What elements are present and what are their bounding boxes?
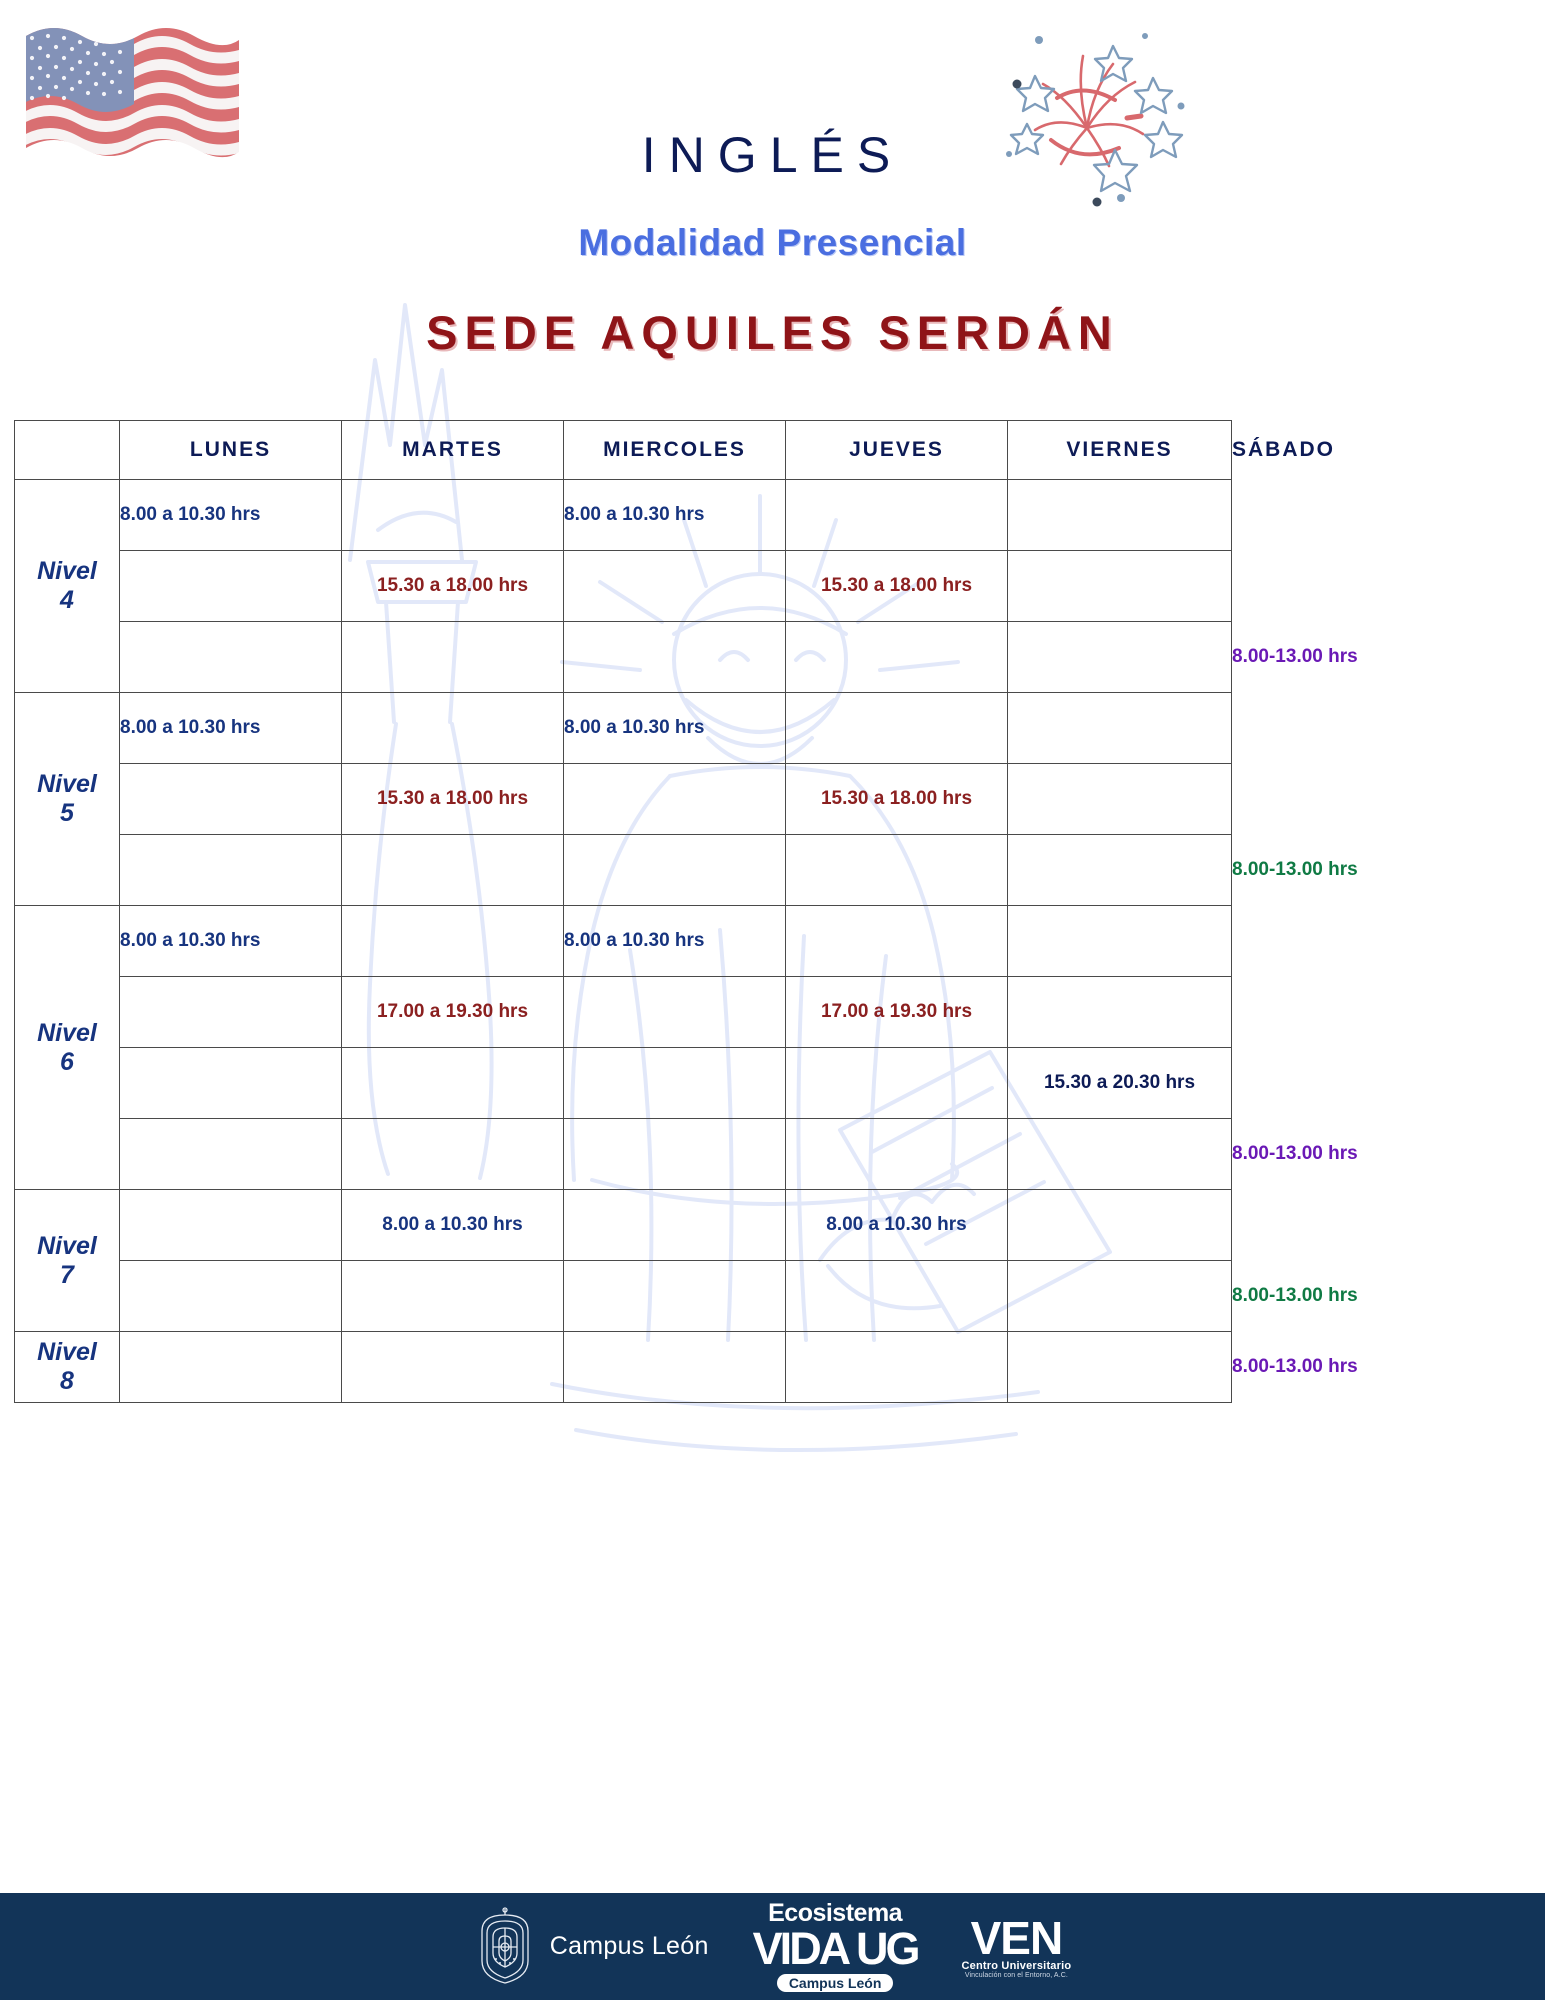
slot-lunes-nivel5-r1: 8.00 a 10.30 hrs	[120, 693, 342, 764]
slot-viernes-nivel4-r2	[1008, 551, 1232, 622]
table-row: 8.00-13.00 hrs	[15, 1119, 1232, 1190]
time-text: 15.30 a 18.00 hrs	[377, 575, 528, 596]
slot-viernes-nivel6-r3: 15.30 a 20.30 hrs	[1008, 1048, 1232, 1119]
slot-martes-nivel6-r2: 17.00 a 19.30 hrs	[342, 977, 564, 1048]
slot-jueves-nivel5-r1	[786, 693, 1008, 764]
table-row: Nivel88.00-13.00 hrs	[15, 1332, 1232, 1403]
level-label-7: Nivel7	[15, 1190, 120, 1332]
slot-viernes-nivel6-r2	[1008, 977, 1232, 1048]
slot-miercoles-nivel6-r1: 8.00 a 10.30 hrs	[564, 906, 786, 977]
slot-martes-nivel5-r3	[342, 835, 564, 906]
slot-jueves-nivel4-r2: 15.30 a 18.00 hrs	[786, 551, 1008, 622]
time-text: 8.00 a 10.30 hrs	[826, 1214, 967, 1235]
level-number: 6	[60, 1048, 74, 1076]
slot-lunes-nivel4-r2	[120, 551, 342, 622]
slot-martes-nivel5-r2: 15.30 a 18.00 hrs	[342, 764, 564, 835]
slot-jueves-nivel8-r1	[786, 1332, 1008, 1403]
slot-lunes-nivel7-r2	[120, 1261, 342, 1332]
ven-logo: VEN Centro Universitario Vinculación con…	[962, 1915, 1072, 1979]
slot-miercoles-nivel5-r2	[564, 764, 786, 835]
table-row: 15.30 a 18.00 hrs15.30 a 18.00 hrs	[15, 551, 1232, 622]
slot-jueves-nivel6-r3	[786, 1048, 1008, 1119]
time-text: 8.00-13.00 hrs	[1232, 1285, 1358, 1306]
slot-jueves-nivel6-r4	[786, 1119, 1008, 1190]
ven-line1-label: Centro Universitario	[962, 1961, 1072, 1972]
slot-martes-nivel7-r2	[342, 1261, 564, 1332]
time-text: 15.30 a 20.30 hrs	[1044, 1072, 1195, 1093]
campus-leon-label: Campus León	[550, 1932, 709, 1961]
slot-jueves-nivel4-r3	[786, 622, 1008, 693]
schedule-table-body: Nivel48.00 a 10.30 hrs8.00 a 10.30 hrs15…	[15, 480, 1232, 1403]
time-text: 8.00 a 10.30 hrs	[120, 717, 261, 738]
day-header-miercoles: MIERCOLES	[564, 421, 786, 480]
slot-miercoles-nivel8-r1	[564, 1332, 786, 1403]
ug-logo-group: Campus León	[474, 1907, 709, 1987]
ven-brand-label: VEN	[971, 1915, 1063, 1961]
poster-header: INGLÉS Modalidad Presencial SEDE AQUILES…	[0, 0, 1545, 420]
slot-lunes-nivel6-r1: 8.00 a 10.30 hrs	[120, 906, 342, 977]
ven-line2-label: Vinculación con el Entorno, A.C.	[965, 1972, 1068, 1979]
level-label-4: Nivel4	[15, 480, 120, 693]
vidaug-logo: Ecosistema VIDA UG Campus León	[753, 1901, 918, 1992]
slot-viernes-nivel4-r1	[1008, 480, 1232, 551]
time-text: 8.00 a 10.30 hrs	[120, 930, 261, 951]
slot-jueves-nivel4-r1	[786, 480, 1008, 551]
slot-viernes-nivel8-r1	[1008, 1332, 1232, 1403]
vidaug-campus-chip: Campus León	[777, 1974, 894, 1992]
slot-martes-nivel6-r4	[342, 1119, 564, 1190]
day-header-martes: MARTES	[342, 421, 564, 480]
slot-lunes-nivel4-r3	[120, 622, 342, 693]
slot-viernes-nivel5-r1	[1008, 693, 1232, 764]
slot-viernes-nivel4-r3	[1008, 622, 1232, 693]
slot-jueves-nivel5-r2: 15.30 a 18.00 hrs	[786, 764, 1008, 835]
slot-jueves-nivel6-r2: 17.00 a 19.30 hrs	[786, 977, 1008, 1048]
level-word: Nivel	[37, 770, 97, 798]
slot-miercoles-nivel6-r2	[564, 977, 786, 1048]
time-text: 8.00 a 10.30 hrs	[120, 504, 261, 525]
footer-bar: Campus León Ecosistema VIDA UG Campus Le…	[0, 1893, 1545, 2000]
vidaug-brand-label: VIDA UG	[753, 1926, 918, 1971]
level-number: 4	[60, 586, 74, 614]
table-row: 17.00 a 19.30 hrs17.00 a 19.30 hrs	[15, 977, 1232, 1048]
day-header-jueves: JUEVES	[786, 421, 1008, 480]
slot-martes-nivel8-r1	[342, 1332, 564, 1403]
slot-martes-nivel4-r3	[342, 622, 564, 693]
slot-miercoles-nivel4-r2	[564, 551, 786, 622]
time-text: 15.30 a 18.00 hrs	[821, 575, 972, 596]
level-number: 5	[60, 799, 74, 827]
table-header-row: LUNES MARTES MIERCOLES JUEVES VIERNES SÁ…	[15, 421, 1232, 480]
slot-martes-nivel6-r1	[342, 906, 564, 977]
slot-lunes-nivel7-r1	[120, 1190, 342, 1261]
slot-martes-nivel4-r2: 15.30 a 18.00 hrs	[342, 551, 564, 622]
day-header-lunes: LUNES	[120, 421, 342, 480]
slot-viernes-nivel7-r2	[1008, 1261, 1232, 1332]
slot-viernes-nivel6-r4	[1008, 1119, 1232, 1190]
slot-miercoles-nivel6-r3	[564, 1048, 786, 1119]
venue-title: SEDE AQUILES SERDÁN	[0, 305, 1545, 360]
level-word: Nivel	[37, 1232, 97, 1260]
slot-jueves-nivel5-r3	[786, 835, 1008, 906]
slot-miercoles-nivel7-r1	[564, 1190, 786, 1261]
time-text: 8.00-13.00 hrs	[1232, 646, 1358, 667]
time-text: 8.00 a 10.30 hrs	[564, 717, 705, 738]
slot-lunes-nivel4-r1: 8.00 a 10.30 hrs	[120, 480, 342, 551]
time-text: 17.00 a 19.30 hrs	[821, 1001, 972, 1022]
slot-martes-nivel6-r3	[342, 1048, 564, 1119]
slot-jueves-nivel7-r2	[786, 1261, 1008, 1332]
time-text: 15.30 a 18.00 hrs	[377, 788, 528, 809]
slot-jueves-nivel7-r1: 8.00 a 10.30 hrs	[786, 1190, 1008, 1261]
slot-lunes-nivel5-r2	[120, 764, 342, 835]
slot-lunes-nivel6-r3	[120, 1048, 342, 1119]
table-row: 8.00-13.00 hrs	[15, 622, 1232, 693]
table-row: 15.30 a 18.00 hrs15.30 a 18.00 hrs	[15, 764, 1232, 835]
level-label-6: Nivel6	[15, 906, 120, 1190]
day-header-viernes: VIERNES	[1008, 421, 1232, 480]
table-row: Nivel48.00 a 10.30 hrs8.00 a 10.30 hrs	[15, 480, 1232, 551]
time-text: 8.00-13.00 hrs	[1232, 1356, 1358, 1377]
table-row: Nivel58.00 a 10.30 hrs8.00 a 10.30 hrs	[15, 693, 1232, 764]
header-corner-cell	[15, 421, 120, 480]
table-row: Nivel68.00 a 10.30 hrs8.00 a 10.30 hrs	[15, 906, 1232, 977]
schedule-table-wrap: LUNES MARTES MIERCOLES JUEVES VIERNES SÁ…	[14, 420, 1531, 1403]
slot-miercoles-nivel6-r4	[564, 1119, 786, 1190]
time-text: 8.00 a 10.30 hrs	[564, 930, 705, 951]
slot-lunes-nivel6-r2	[120, 977, 342, 1048]
slot-viernes-nivel6-r1	[1008, 906, 1232, 977]
page-title: INGLÉS	[0, 126, 1545, 184]
time-text: 8.00-13.00 hrs	[1232, 1143, 1358, 1164]
table-row: Nivel78.00 a 10.30 hrs8.00 a 10.30 hrs	[15, 1190, 1232, 1261]
subtitle-modalidad: Modalidad Presencial	[0, 222, 1545, 264]
slot-jueves-nivel6-r1	[786, 906, 1008, 977]
slot-martes-nivel7-r1: 8.00 a 10.30 hrs	[342, 1190, 564, 1261]
level-word: Nivel	[37, 557, 97, 585]
slot-martes-nivel4-r1	[342, 480, 564, 551]
time-text: 8.00 a 10.30 hrs	[382, 1214, 523, 1235]
time-text: 17.00 a 19.30 hrs	[377, 1001, 528, 1022]
table-row: 8.00-13.00 hrs	[15, 1261, 1232, 1332]
slot-viernes-nivel7-r1	[1008, 1190, 1232, 1261]
level-number: 7	[60, 1261, 74, 1289]
slot-lunes-nivel6-r4	[120, 1119, 342, 1190]
level-word: Nivel	[37, 1019, 97, 1047]
level-label-5: Nivel5	[15, 693, 120, 906]
schedule-table: LUNES MARTES MIERCOLES JUEVES VIERNES SÁ…	[14, 420, 1232, 1403]
slot-lunes-nivel5-r3	[120, 835, 342, 906]
time-text: 15.30 a 18.00 hrs	[821, 788, 972, 809]
slot-martes-nivel5-r1	[342, 693, 564, 764]
slot-viernes-nivel5-r3	[1008, 835, 1232, 906]
slot-miercoles-nivel5-r3	[564, 835, 786, 906]
level-number: 8	[60, 1367, 74, 1395]
slot-miercoles-nivel7-r2	[564, 1261, 786, 1332]
time-text: 8.00 a 10.30 hrs	[564, 504, 705, 525]
slot-miercoles-nivel4-r3	[564, 622, 786, 693]
level-label-8: Nivel8	[15, 1332, 120, 1403]
time-text: 8.00-13.00 hrs	[1232, 859, 1358, 880]
table-row: 15.30 a 20.30 hrs	[15, 1048, 1232, 1119]
slot-viernes-nivel5-r2	[1008, 764, 1232, 835]
slot-lunes-nivel8-r1	[120, 1332, 342, 1403]
ug-crest-icon	[474, 1907, 536, 1987]
level-word: Nivel	[37, 1338, 97, 1366]
slot-miercoles-nivel4-r1: 8.00 a 10.30 hrs	[564, 480, 786, 551]
slot-miercoles-nivel5-r1: 8.00 a 10.30 hrs	[564, 693, 786, 764]
table-row: 8.00-13.00 hrs	[15, 835, 1232, 906]
